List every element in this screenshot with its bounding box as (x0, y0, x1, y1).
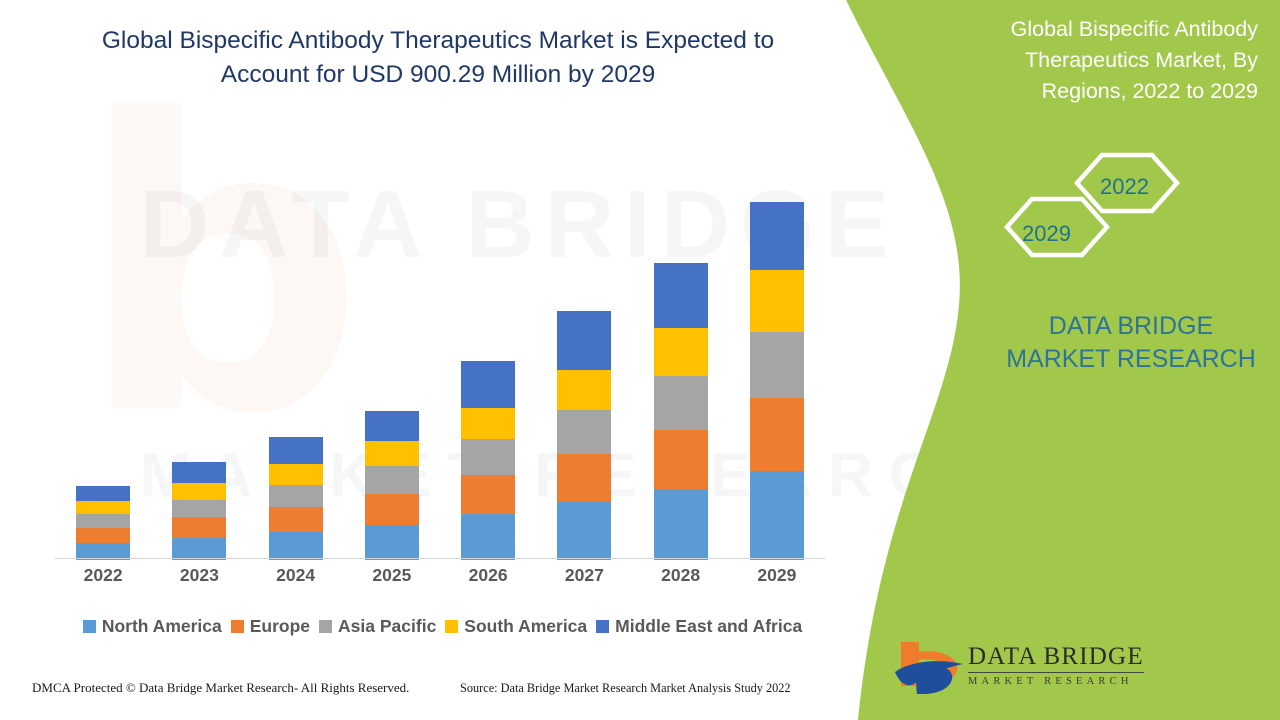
legend-swatch-icon (445, 620, 458, 633)
legend-swatch-icon (319, 620, 332, 633)
bar-segment (654, 489, 708, 560)
bar-segment (461, 439, 515, 474)
footer-bar: DMCA Protected © Data Bridge Market Rese… (0, 680, 845, 704)
copyright-notice: DMCA Protected © Data Bridge Market Rese… (32, 680, 409, 696)
bar-segment (461, 514, 515, 560)
bar-segment (557, 410, 611, 455)
x-tick-label: 2028 (636, 565, 726, 586)
bar-segment (750, 270, 804, 331)
bar-column (365, 411, 419, 560)
x-tick-label: 2029 (732, 565, 822, 586)
source-notice: Source: Data Bridge Market Research Mark… (460, 681, 791, 696)
stacked-bar-chart (55, 170, 825, 560)
bar-segment (76, 528, 130, 544)
bar-segment (172, 483, 226, 500)
x-axis-tick-labels: 20222023202420252026202720282029 (55, 565, 825, 595)
legend-label: Europe (250, 616, 310, 637)
legend-label: South America (464, 616, 587, 637)
bar-segment (172, 500, 226, 518)
legend-item[interactable]: Europe (231, 616, 310, 637)
bar-segment (461, 408, 515, 440)
bar-segment (76, 514, 130, 528)
bar-segment (365, 466, 419, 494)
bar-segment (269, 532, 323, 560)
bar-segment (76, 486, 130, 501)
hexagon-label-2029: 2029 (1022, 221, 1071, 247)
bar-segment (557, 502, 611, 560)
x-tick-label: 2022 (58, 565, 148, 586)
brand-name-text: DATA BRIDGE MARKET RESEARCH (995, 310, 1267, 376)
bar-column (461, 361, 515, 560)
x-tick-label: 2024 (251, 565, 341, 586)
legend-swatch-icon (83, 620, 96, 633)
legend-label: Middle East and Africa (615, 616, 802, 637)
logo-title: DATA BRIDGE (968, 643, 1144, 673)
bar-segment (269, 485, 323, 507)
bar-segment (172, 538, 226, 560)
legend-item[interactable]: Middle East and Africa (596, 616, 802, 637)
bar-segment (461, 361, 515, 407)
bar-segment (557, 370, 611, 410)
bar-segment (269, 464, 323, 484)
bar-segment (269, 437, 323, 464)
bar-segment (654, 328, 708, 376)
bar-segment (654, 430, 708, 489)
legend-swatch-icon (231, 620, 244, 633)
bar-segment (461, 475, 515, 514)
legend-item[interactable]: Asia Pacific (319, 616, 436, 637)
bar-column (750, 202, 804, 560)
bar-segment (750, 471, 804, 560)
bar-segment (654, 376, 708, 430)
x-tick-label: 2027 (539, 565, 629, 586)
infographic-canvas: b DATA BRIDGE MARKET RESEARCH Global Bis… (0, 0, 1280, 720)
bar-segment (365, 441, 419, 466)
legend-swatch-icon (596, 620, 609, 633)
legend-label: North America (102, 616, 222, 637)
bar-segment (365, 494, 419, 525)
bar-segment (557, 454, 611, 502)
bar-segment (750, 202, 804, 271)
page-title: Global Bispecific Antibody Therapeutics … (58, 24, 818, 92)
panel-title: Global Bispecific Antibody Therapeutics … (938, 14, 1258, 107)
legend-label: Asia Pacific (338, 616, 436, 637)
bar-column (269, 437, 323, 560)
bar-segment (76, 501, 130, 514)
bar-segment (172, 517, 226, 537)
chart-legend: North AmericaEuropeAsia PacificSouth Ame… (55, 616, 830, 637)
bar-segment (269, 507, 323, 532)
hexagon-label-2022: 2022 (1100, 174, 1149, 200)
bar-column (76, 486, 130, 560)
x-tick-label: 2026 (443, 565, 533, 586)
x-tick-label: 2025 (347, 565, 437, 586)
bar-segment (557, 311, 611, 370)
bar-segment (654, 263, 708, 328)
x-tick-label: 2023 (154, 565, 244, 586)
bar-column (172, 462, 226, 560)
hexagon-badges (985, 145, 1185, 280)
bar-segment (750, 332, 804, 399)
bar-column (557, 311, 611, 560)
logo-blue-b-icon (916, 666, 952, 694)
bar-column (654, 263, 708, 560)
bar-segment (365, 411, 419, 441)
x-axis-line (55, 558, 825, 559)
bar-segment (172, 462, 226, 483)
bar-segment (750, 398, 804, 470)
logo-subtitle: MARKET RESEARCH (968, 676, 1144, 687)
legend-item[interactable]: North America (83, 616, 222, 637)
logo-text-block: DATA BRIDGE MARKET RESEARCH (968, 643, 1144, 687)
bar-segment (365, 525, 419, 560)
legend-item[interactable]: South America (445, 616, 587, 637)
